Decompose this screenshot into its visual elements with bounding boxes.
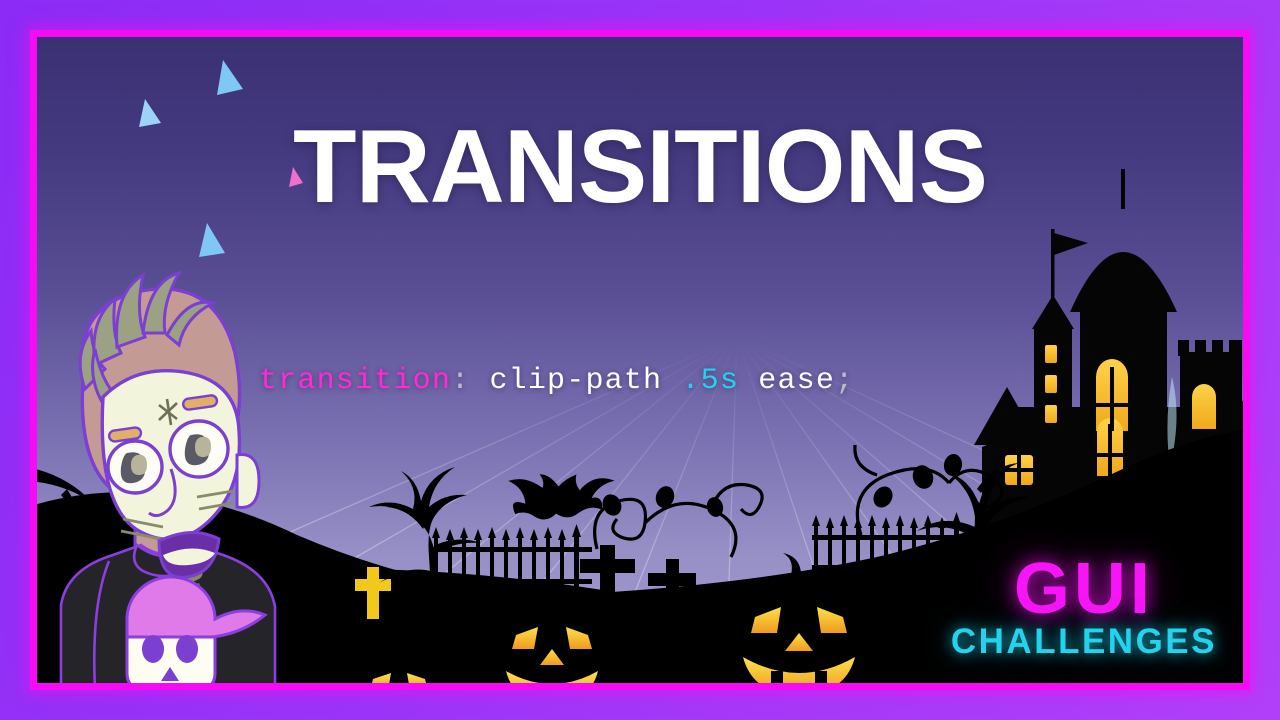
- zombie-presenter-illustration: [37, 269, 301, 683]
- page-title: TRANSITIONS: [37, 115, 1243, 219]
- scene-canvas: TRANSITIONS transition: clip-path .5s ea…: [37, 37, 1243, 683]
- code-property: transition: [259, 364, 451, 398]
- code-easing: ease: [758, 364, 835, 398]
- code-snippet: transition: clip-path .5s ease;: [259, 364, 854, 398]
- code-value: clip-path: [489, 364, 662, 398]
- brand-logo: GUI CHALLENGES: [937, 550, 1231, 669]
- code-duration: .5s: [681, 364, 739, 398]
- brand-logo-challenges: CHALLENGES: [951, 624, 1217, 659]
- code-colon: :: [451, 364, 470, 398]
- avatar: [37, 269, 301, 683]
- thumbnail-stage: TRANSITIONS transition: clip-path .5s ea…: [0, 0, 1280, 720]
- code-semicolon: ;: [835, 364, 854, 398]
- brand-logo-gui: GUI: [951, 556, 1217, 622]
- avatar-head: [80, 273, 259, 577]
